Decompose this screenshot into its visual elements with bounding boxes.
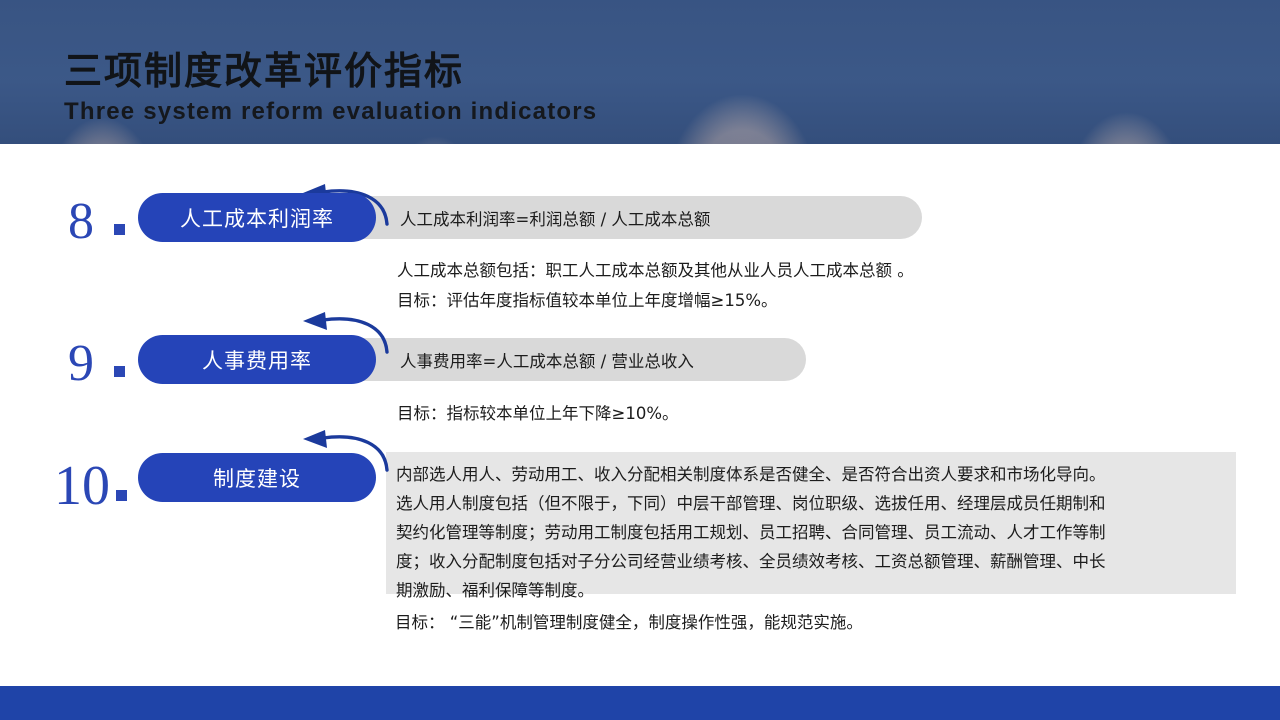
row-bullet-square-10	[116, 490, 127, 501]
formula-text-9: 人事费用率=人工成本总额 / 营业总收入	[400, 348, 694, 372]
description-block-10: 内部选人用人、劳动用工、收入分配相关制度体系是否健全、是否符合出资人要求和市场化…	[386, 452, 1236, 594]
note-text-9-1: 目标：指标较本单位上年下降≥10%。	[397, 399, 679, 429]
description-line-10-5: 期激励、福利保障等制度。	[396, 576, 1226, 605]
row-bullet-square-9	[114, 366, 125, 377]
description-line-10-2: 选人用人制度包括（但不限于，下同）中层干部管理、岗位职级、选拔任用、经理层成员任…	[396, 489, 1226, 518]
note-text-8-2: 目标：评估年度指标值较本单位上年度增幅≥15%。	[397, 286, 778, 316]
header-banner: 三项制度改革评价指标 Three system reform evaluatio…	[0, 0, 1280, 144]
description-line-10-4: 度；收入分配制度包括对子分公司经营业绩考核、全员绩效考核、工资总额管理、薪酬管理…	[396, 547, 1226, 576]
row-bullet-square-8	[114, 224, 125, 235]
indicator-pill-label-8: 人工成本利润率	[180, 203, 334, 233]
indicator-pill-label-10: 制度建设	[213, 463, 301, 493]
row-number-9: 9	[68, 338, 94, 390]
description-line-10-1: 内部选人用人、劳动用工、收入分配相关制度体系是否健全、是否符合出资人要求和市场化…	[396, 460, 1226, 489]
slide-root: 三项制度改革评价指标 Three system reform evaluatio…	[0, 0, 1280, 720]
page-title-chinese: 三项制度改革评价指标	[64, 52, 464, 90]
indicator-pill-8[interactable]: 人工成本利润率	[138, 193, 376, 242]
indicator-pill-label-9: 人事费用率	[202, 345, 312, 375]
indicator-pill-9[interactable]: 人事费用率	[138, 335, 376, 384]
note-text-8-1: 人工成本总额包括：职工人工成本总额及其他从业人员人工成本总额 。	[397, 256, 914, 286]
note-text-10-1: 目标： “三能”机制管理制度健全，制度操作性强，能规范实施。	[395, 608, 863, 638]
formula-text-8: 人工成本利润率=利润总额 / 人工成本总额	[400, 206, 710, 230]
page-title-english: Three system reform evaluation indicator…	[64, 100, 597, 124]
indicator-pill-10[interactable]: 制度建设	[138, 453, 376, 502]
row-number-8: 8	[68, 196, 94, 248]
row-number-10: 10	[54, 458, 110, 514]
footer-bar	[0, 686, 1280, 720]
description-line-10-3: 契约化管理等制度；劳动用工制度包括用工规划、员工招聘、合同管理、员工流动、人才工…	[396, 518, 1226, 547]
